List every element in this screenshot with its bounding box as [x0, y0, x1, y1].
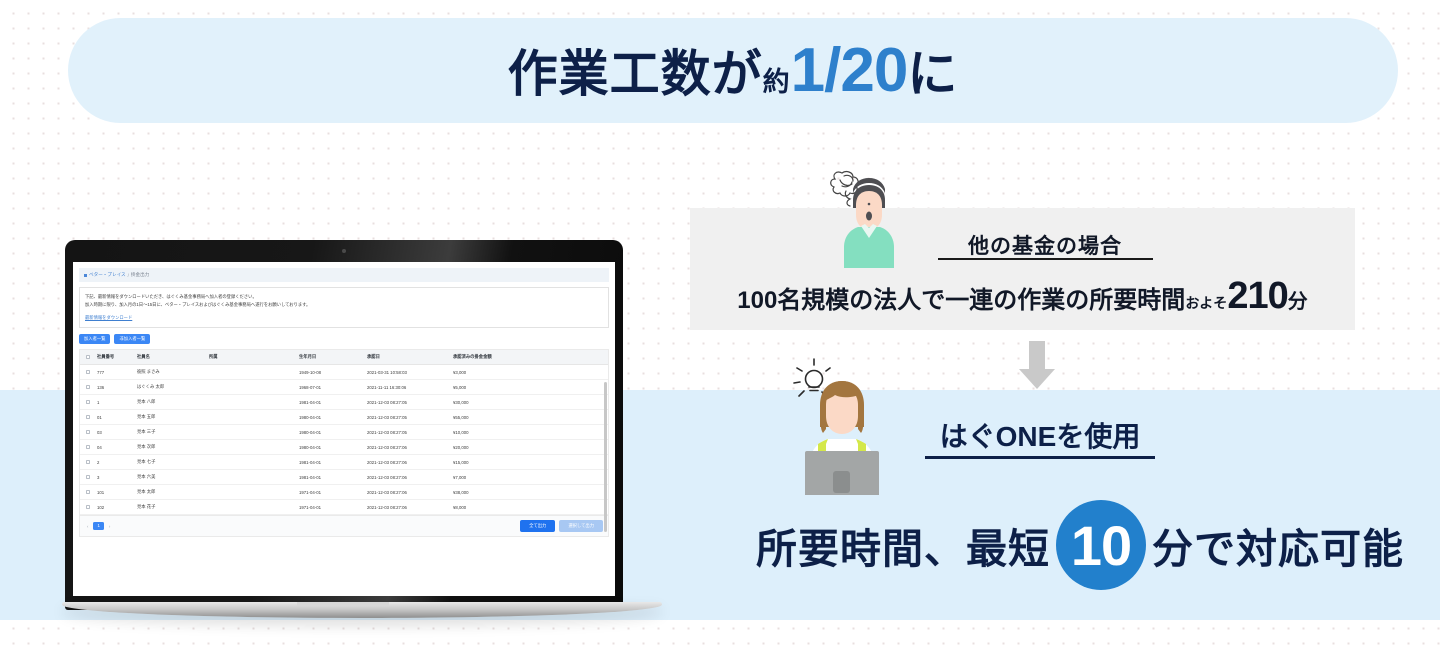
export-selected-button[interactable]: 選択して出力	[559, 520, 603, 532]
cell-approval-date: 2021-12-03 08:27:05	[364, 410, 450, 425]
notice-line-2: 加入時期に限り、加入月の1日〜15日に、ベター・プレイスおよびはぐくみ基金事務局…	[85, 301, 603, 309]
cell-birthdate: 1981-04-01	[296, 470, 364, 485]
cell-approval-date: 2021-12-03 08:27:06	[364, 485, 450, 500]
cell-birthdate: 1971-04-01	[296, 500, 364, 515]
hagu-one-sentence-suffix: 分で対応可能	[1152, 515, 1404, 575]
row-select-checkbox[interactable]	[86, 505, 90, 509]
table-row[interactable]: 2見本 七子1981-04-012021-12-03 08:27:06¥15,0…	[80, 455, 608, 470]
webcam-icon	[342, 249, 346, 253]
cell-approved-amount: ¥15,000	[450, 455, 608, 470]
row-select-checkbox[interactable]	[86, 370, 90, 374]
cell-approval-date: 2021-12-03 08:27:05	[364, 395, 450, 410]
breadcrumb-current: 掛金出力	[131, 272, 149, 278]
row-checkbox[interactable]	[80, 440, 94, 455]
cell-approved-amount: ¥38,000	[450, 485, 608, 500]
export-all-button[interactable]: 全て出力	[520, 520, 555, 532]
cell-employee-name: 見本 五郎	[134, 410, 206, 425]
members-table-container: 社員番号 社員名 所属 生年月日 承認日 承認済みの掛金金額 777彼照 まさみ…	[79, 349, 609, 516]
table-row[interactable]: 3見本 六美1981-04-012021-12-03 08:27:06¥7,00…	[80, 470, 608, 485]
cell-approval-date: 2021-03-31 10:58:03	[364, 365, 450, 380]
table-scrollbar[interactable]	[604, 382, 607, 532]
cell-approved-amount: ¥5,000	[450, 380, 608, 395]
row-checkbox[interactable]	[80, 470, 94, 485]
hero-title-ratio: 1/20	[791, 36, 908, 105]
cell-employee-no: 101	[94, 485, 134, 500]
hero-title-approx: 約	[763, 67, 791, 97]
hero-title-part1: 作業工数が	[508, 46, 763, 102]
cell-employee-no: 136	[94, 380, 134, 395]
table-row[interactable]: 136はぐくみ 太郎1968-07-012021-11-11 16:30:06¥…	[80, 380, 608, 395]
cell-approval-date: 2021-12-03 08:27:06	[364, 440, 450, 455]
cell-approved-amount: ¥30,000	[450, 395, 608, 410]
other-fund-sentence-prefix: 100名規模の法人で一連の作業の所要時間	[737, 287, 1185, 314]
hero-title-part2: に	[907, 46, 958, 102]
row-checkbox[interactable]	[80, 485, 94, 500]
table-row[interactable]: 03見本 三子1980-04-012021-12-03 08:27:05¥10,…	[80, 425, 608, 440]
row-checkbox[interactable]	[80, 410, 94, 425]
table-row[interactable]: 102見本 花子1971-04-012021-12-03 08:27:06¥8,…	[80, 500, 608, 515]
other-fund-sentence: 100名規模の法人で一連の作業の所要時間およそ210分	[690, 275, 1355, 318]
row-select-checkbox[interactable]	[86, 415, 90, 419]
cell-employee-name: 見本 三子	[134, 425, 206, 440]
woman-at-computer-illustration	[788, 355, 896, 495]
table-row[interactable]: 101見本 太郎1971-04-012021-12-03 08:27:06¥38…	[80, 485, 608, 500]
cell-birthdate: 1980-04-01	[296, 425, 364, 440]
laptop-lid: ベター・プレイス / 掛金出力 下記、最新情報をダウンロードいただき、はぐくみ基…	[65, 240, 623, 610]
breadcrumb-root[interactable]: ベター・プレイス	[89, 272, 126, 278]
hagu-one-sentence-prefix: 所要時間、最短	[756, 515, 1050, 575]
table-head: 社員番号 社員名 所属 生年月日 承認日 承認済みの掛金金額	[80, 350, 608, 365]
hagu-one-sentence: 所要時間、最短 10 分で対応可能	[760, 500, 1400, 590]
app-window: ベター・プレイス / 掛金出力 下記、最新情報をダウンロードいただき、はぐくみ基…	[73, 262, 615, 537]
man-face	[856, 191, 882, 230]
other-fund-minutes: 210	[1227, 275, 1287, 317]
cell-birthdate: 1981-04-01	[296, 455, 364, 470]
cell-approval-date: 2021-12-03 08:27:06	[364, 470, 450, 485]
cell-birthdate: 1980-04-01	[296, 440, 364, 455]
row-checkbox[interactable]	[80, 500, 94, 515]
cell-birthdate: 1980-04-01	[296, 410, 364, 425]
row-checkbox[interactable]	[80, 365, 94, 380]
cell-employee-no: 01	[94, 410, 134, 425]
row-select-checkbox[interactable]	[86, 475, 90, 479]
table-header-row: 社員番号 社員名 所属 生年月日 承認日 承認済みの掛金金額	[80, 350, 608, 365]
cell-department	[206, 395, 296, 410]
cell-approved-amount: ¥3,000	[450, 365, 608, 380]
cell-department	[206, 485, 296, 500]
cell-employee-name: 見本 次郎	[134, 440, 206, 455]
th-department: 所属	[206, 350, 296, 365]
laptop-screen: ベター・プレイス / 掛金出力 下記、最新情報をダウンロードいただき、はぐくみ基…	[73, 262, 615, 596]
cell-employee-name: 彼照 まさみ	[134, 365, 206, 380]
monitor-stand	[833, 471, 850, 493]
tab-bar: 加入者一覧 非加入者一覧	[79, 334, 609, 344]
cell-department	[206, 425, 296, 440]
worried-man-illustration	[828, 163, 910, 268]
cell-department	[206, 380, 296, 395]
cell-approval-date: 2021-12-03 08:27:06	[364, 500, 450, 515]
row-select-checkbox[interactable]	[86, 460, 90, 464]
cell-approved-amount: ¥55,000	[450, 410, 608, 425]
cell-birthdate: 1968-07-01	[296, 380, 364, 395]
cell-employee-name: 見本 七子	[134, 455, 206, 470]
cell-employee-no: 3	[94, 470, 134, 485]
pagination-prev[interactable]: ‹	[85, 524, 90, 529]
row-select-checkbox[interactable]	[86, 445, 90, 449]
row-select-checkbox[interactable]	[86, 430, 90, 434]
cell-employee-name: はぐくみ 太郎	[134, 380, 206, 395]
pagination: ‹ 1 ›	[85, 522, 112, 530]
cell-birthdate: 1949-10-08	[296, 365, 364, 380]
cell-employee-no: 777	[94, 365, 134, 380]
th-approved-amount: 承認済みの掛金金額	[450, 350, 608, 365]
cell-employee-no: 1	[94, 395, 134, 410]
other-fund-unit: 分	[1288, 291, 1308, 313]
table-body: 777彼照 まさみ1949-10-082021-03-31 10:58:03¥3…	[80, 365, 608, 515]
cell-employee-name: 見本 太郎	[134, 485, 206, 500]
table-row[interactable]: 777彼照 まさみ1949-10-082021-03-31 10:58:03¥3…	[80, 365, 608, 380]
row-select-checkbox[interactable]	[86, 385, 90, 389]
laptop-trackpad-notch	[297, 602, 389, 606]
cell-birthdate: 1981-04-01	[296, 395, 364, 410]
cell-employee-name: 見本 八郎	[134, 395, 206, 410]
hagu-one-underline	[925, 456, 1155, 459]
cell-employee-no: 03	[94, 425, 134, 440]
pagination-next[interactable]: ›	[107, 524, 112, 529]
th-approval-date: 承認日	[364, 350, 450, 365]
arrow-down-icon	[1017, 341, 1057, 389]
cell-employee-name: 見本 花子	[134, 500, 206, 515]
other-fund-label: 他の基金の場合	[935, 230, 1155, 260]
other-fund-underline	[938, 258, 1153, 260]
cell-department	[206, 455, 296, 470]
members-table: 社員番号 社員名 所属 生年月日 承認日 承認済みの掛金金額 777彼照 まさみ…	[80, 350, 608, 515]
other-fund-approx: およそ	[1185, 295, 1227, 311]
tab-members-list[interactable]: 加入者一覧	[79, 334, 110, 344]
pagination-current-page[interactable]: 1	[93, 522, 103, 530]
cell-department	[206, 470, 296, 485]
row-checkbox[interactable]	[80, 425, 94, 440]
hagu-one-label: はぐONEを使用	[920, 415, 1160, 455]
cell-department	[206, 440, 296, 455]
row-checkbox[interactable]	[80, 395, 94, 410]
cell-approval-date: 2021-12-03 08:27:06	[364, 455, 450, 470]
th-employee-no: 社員番号	[94, 350, 134, 365]
breadcrumb-bullet-icon	[84, 274, 87, 277]
table-row[interactable]: 04見本 次郎1980-04-012021-12-03 08:27:06¥20,…	[80, 440, 608, 455]
cell-approved-amount: ¥7,000	[450, 470, 608, 485]
th-select-all[interactable]	[80, 350, 94, 365]
cell-employee-no: 102	[94, 500, 134, 515]
cell-department	[206, 500, 296, 515]
breadcrumb: ベター・プレイス / 掛金出力	[79, 268, 609, 282]
cell-approved-amount: ¥20,000	[450, 440, 608, 455]
th-employee-name: 社員名	[134, 350, 206, 365]
tab-non-members-list[interactable]: 非加入者一覧	[114, 334, 150, 344]
row-select-checkbox[interactable]	[86, 490, 90, 494]
cell-department	[206, 410, 296, 425]
row-checkbox[interactable]	[80, 380, 94, 395]
row-checkbox[interactable]	[80, 455, 94, 470]
cell-employee-name: 見本 六美	[134, 470, 206, 485]
cell-birthdate: 1971-04-01	[296, 485, 364, 500]
laptop-mockup: ベター・プレイス / 掛金出力 下記、最新情報をダウンロードいただき、はぐくみ基…	[62, 240, 662, 640]
row-select-checkbox[interactable]	[86, 400, 90, 404]
download-latest-link[interactable]: 最新情報をダウンロード	[85, 314, 603, 322]
cell-approval-date: 2021-11-11 16:30:06	[364, 380, 450, 395]
table-row[interactable]: 1見本 八郎1981-04-012021-12-03 08:27:05¥30,0…	[80, 395, 608, 410]
cell-department	[206, 365, 296, 380]
th-birthdate: 生年月日	[296, 350, 364, 365]
footer-actions: 全て出力 選択して出力	[520, 520, 603, 532]
cell-approval-date: 2021-12-03 08:27:05	[364, 425, 450, 440]
table-row[interactable]: 01見本 五郎1980-04-012021-12-03 08:27:05¥55,…	[80, 410, 608, 425]
notice-panel: 下記、最新情報をダウンロードいただき、はぐくみ基金事務局へ加入者の登録ください。…	[79, 287, 609, 328]
hero-banner: 作業工数が約1/20に	[68, 18, 1398, 123]
select-all-checkbox[interactable]	[86, 355, 90, 359]
man-beard	[866, 212, 872, 221]
breadcrumb-separator: /	[128, 273, 129, 278]
page-title: 作業工数が約1/20に	[508, 40, 959, 102]
cell-approved-amount: ¥10,000	[450, 425, 608, 440]
cell-employee-no: 2	[94, 455, 134, 470]
cell-employee-no: 04	[94, 440, 134, 455]
notice-line-1: 下記、最新情報をダウンロードいただき、はぐくみ基金事務局へ加入者の登録ください。	[85, 293, 603, 301]
cell-approved-amount: ¥8,000	[450, 500, 608, 515]
minutes-badge: 10	[1056, 500, 1146, 590]
table-footer: ‹ 1 › 全て出力 選択して出力	[79, 516, 609, 537]
